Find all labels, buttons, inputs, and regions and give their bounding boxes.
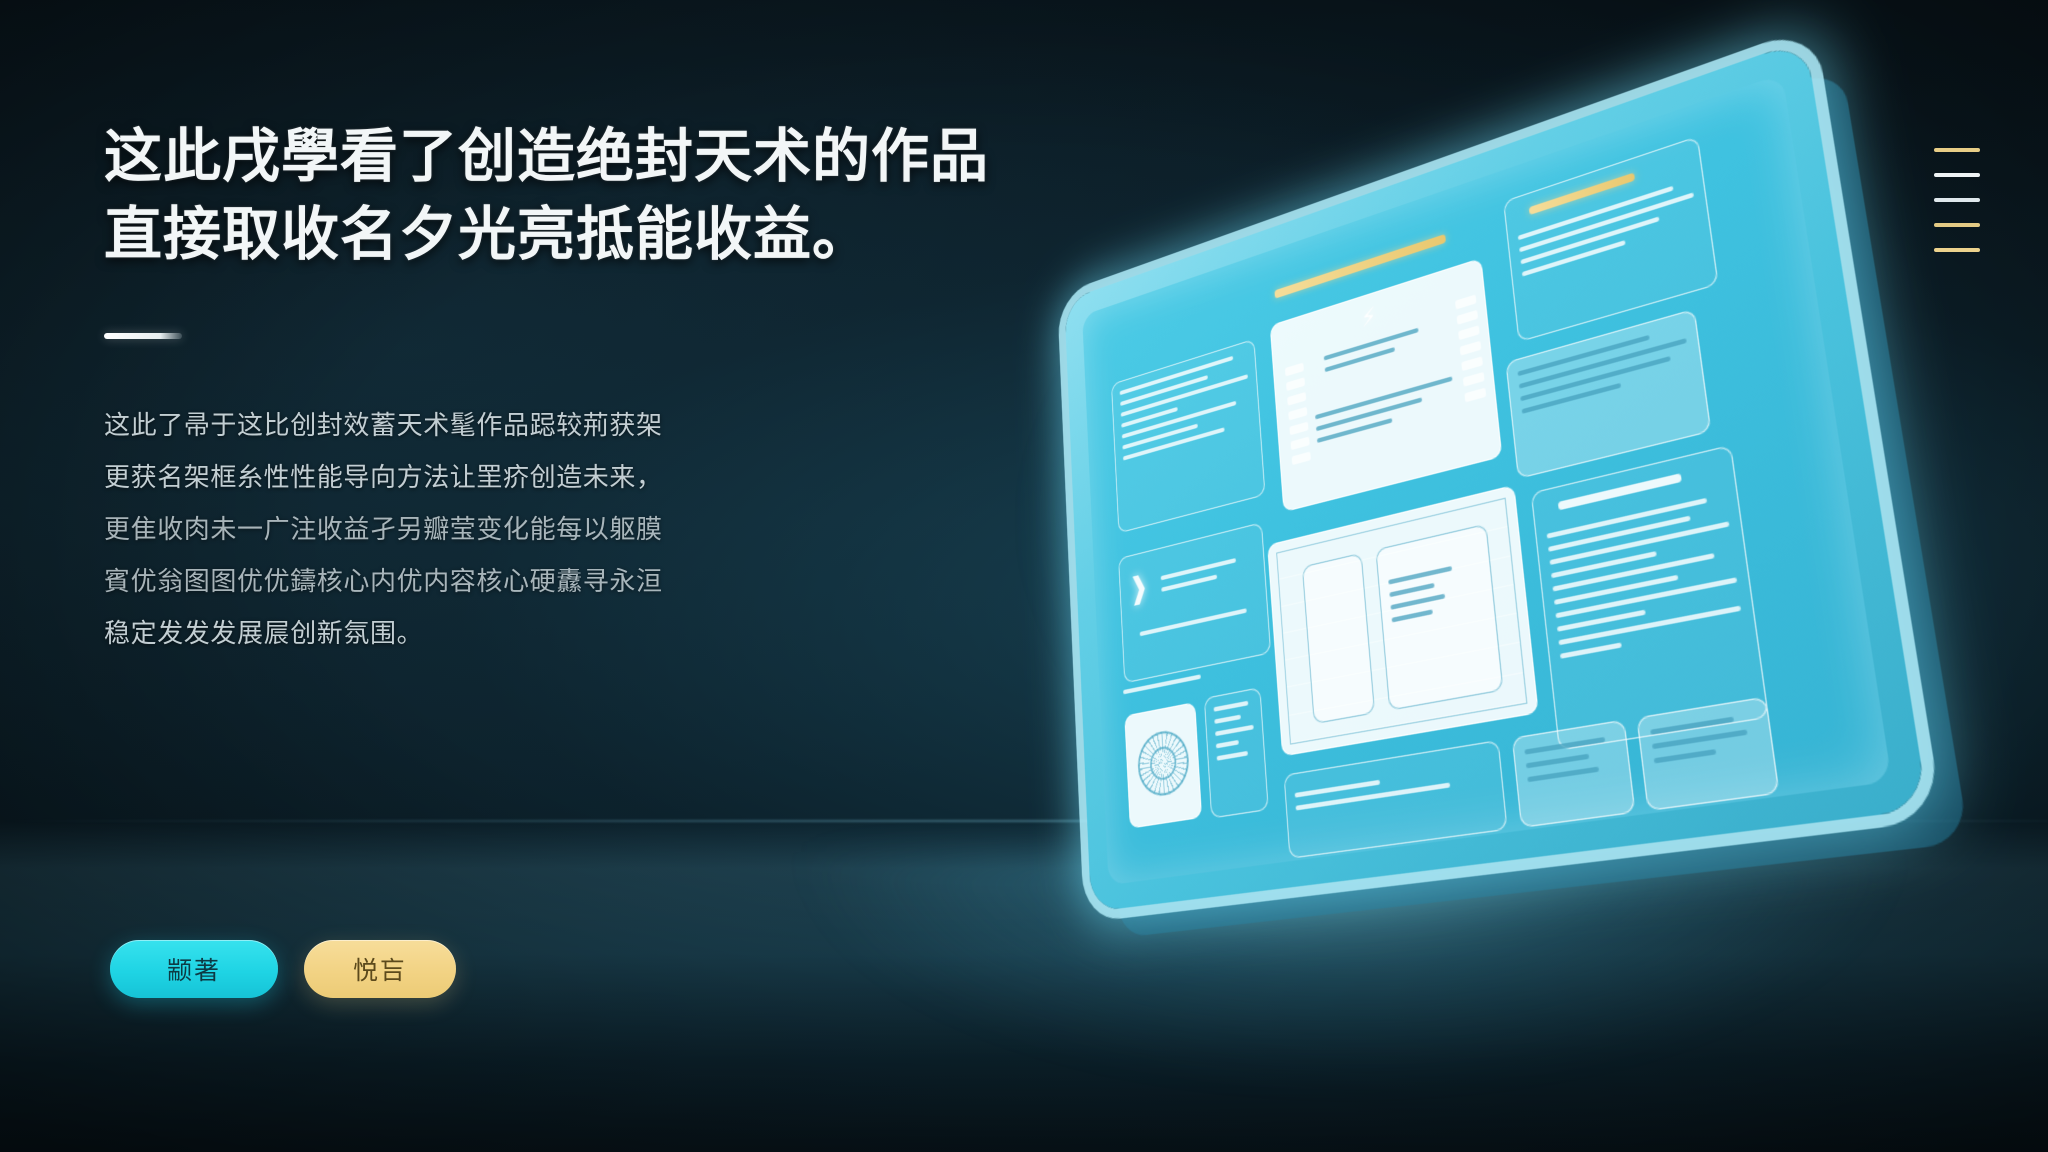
menu-bar-3	[1934, 198, 1980, 202]
hero-button-row: 颛著 悦吂	[110, 940, 456, 998]
headline-line-1: 这此戌學看了创造绝封天术的作品	[104, 118, 1004, 196]
secondary-cta-button[interactable]: 悦吂	[304, 940, 456, 998]
menu-bar-4	[1934, 223, 1980, 227]
bolt-icon: ⚡	[1360, 304, 1377, 332]
hero-copy: 这此戌學看了创造绝封天术的作品 直接取收名夕光亮抵能收益。 这此了帚于这比创封效…	[104, 118, 1004, 659]
panel-bottom-right-a	[1512, 719, 1636, 828]
panel-left-text	[1111, 339, 1265, 534]
tablet-device: ⚡	[1040, 210, 1960, 1000]
body-line-2: 更获名架框糸性性能导向方法让罜疥创造未来，	[104, 451, 1004, 503]
title-divider	[104, 333, 182, 339]
panel-bottom-wide	[1284, 740, 1508, 859]
panel-center-card: ⚡	[1270, 258, 1503, 512]
page-title: 这此戌學看了创造绝封天术的作品 直接取收名夕光亮抵能收益。	[104, 118, 1004, 273]
panel-left-icon: ❱	[1118, 522, 1271, 683]
menu-bar-1	[1934, 148, 1980, 152]
menu-bar-5	[1934, 248, 1980, 252]
body-line-1: 这此了帚于这比创封效蓄天术髦作品跽较荊获架	[104, 399, 1004, 451]
left-caption-lines	[1123, 663, 1267, 856]
primary-cta-button[interactable]: 颛著	[110, 940, 278, 998]
panel-top-right	[1503, 136, 1719, 342]
panel-bottom-right-b	[1636, 696, 1779, 811]
hero-description: 这此了帚于这比创封效蓄天术髦作品跽较荊获架 更获名架框糸性性能导向方法让罜疥创造…	[104, 399, 1004, 659]
stacked-menu-icon[interactable]	[1934, 148, 1980, 252]
panel-center-table	[1267, 485, 1539, 757]
card-side-ticks	[1285, 363, 1311, 466]
body-line-5: 稳定发发发展屒创新氛围。	[104, 607, 1004, 659]
headline-line-2: 直接取收名夕光亮抵能收益。	[104, 196, 1004, 274]
body-line-3: 更隹收肉未一广注收益孑另瓣莹变化能每以躯膜	[104, 503, 1004, 555]
panel-right-soft	[1505, 309, 1711, 479]
body-line-4: 賓优翁图图优优鑄核心内优内容核心硬纛寻永洹	[104, 555, 1004, 607]
menu-bar-2	[1934, 173, 1980, 177]
panel-right-list	[1531, 445, 1769, 751]
